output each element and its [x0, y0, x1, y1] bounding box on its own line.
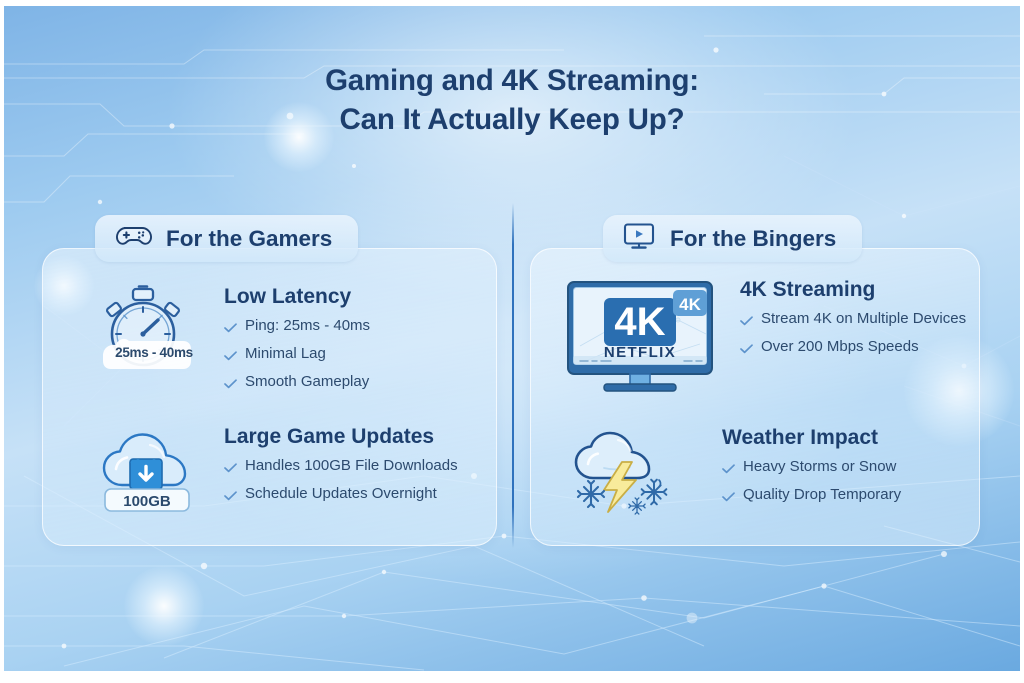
tv-main-label: 4K [614, 300, 665, 344]
storage-badge: 100GB [105, 493, 189, 510]
feature-title: Weather Impact [722, 426, 901, 450]
bullet-item: Quality Drop Temporary [722, 485, 901, 507]
title-line-2: Can It Actually Keep Up? [0, 101, 1024, 140]
check-icon [722, 461, 735, 479]
storm-snow-cloud-icon [560, 424, 700, 521]
feature-title: Low Latency [224, 285, 370, 309]
bullet-text: Smooth Gameplay [245, 372, 369, 391]
bullet-text: Over 200 Mbps Speeds [761, 337, 971, 356]
bullet-item: Stream 4K on Multiple Devices [740, 309, 971, 331]
bullet-item: Ping: 25ms - 40ms [224, 316, 370, 338]
feature-low-latency: 25ms - 40ms Low Latency Ping: 25ms - 40m… [92, 283, 370, 400]
bullet-item: Over 200 Mbps Speeds [740, 337, 971, 359]
bullet-text: Heavy Storms or Snow [743, 457, 896, 476]
column-header-label: For the Bingers [670, 226, 836, 252]
feature-weather-impact: Weather Impact Heavy Storms or Snow Qual… [560, 424, 901, 521]
column-header-bingers: For the Bingers [603, 215, 862, 262]
feature-title: 4K Streaming [740, 278, 971, 302]
check-icon [224, 460, 237, 478]
check-icon [740, 313, 753, 331]
tv-corner-badge: 4K [679, 295, 701, 314]
feature-title: Large Game Updates [224, 425, 458, 449]
check-icon [224, 320, 237, 338]
bullet-text: Handles 100GB File Downloads [245, 456, 458, 475]
feature-large-game-updates: 100GB Large Game Updates Handles 100GB F… [92, 423, 458, 520]
bullet-item: Smooth Gameplay [224, 372, 370, 394]
bullet-item: Schedule Updates Overnight [224, 484, 458, 506]
latency-badge: 25ms - 40ms [108, 345, 200, 360]
cloud-download-icon: 100GB [92, 423, 202, 520]
gamepad-icon [113, 222, 153, 255]
check-icon [740, 341, 753, 359]
title-line-1: Gaming and 4K Streaming: [0, 62, 1024, 101]
tv-brand: NETFLIX [604, 344, 676, 361]
bullet-text: Quality Drop Temporary [743, 485, 901, 504]
bullet-text: Schedule Updates Overnight [245, 484, 437, 503]
tv-4k-icon: 4K 4K NETFLIX [560, 276, 720, 399]
feature-4k-streaming: 4K 4K NETFLIX 4K Streaming Stream 4K on … [560, 276, 971, 399]
column-header-gamers: For the Gamers [95, 215, 358, 262]
bullet-item: Minimal Lag [224, 344, 370, 366]
column-header-label: For the Gamers [166, 226, 332, 252]
infographic-canvas: Gaming and 4K Streaming: Can It Actually… [0, 0, 1024, 683]
monitor-play-icon [621, 221, 657, 256]
bullet-text: Stream 4K on Multiple Devices [761, 309, 971, 328]
check-icon [224, 376, 237, 394]
bullet-text: Ping: 25ms - 40ms [245, 316, 370, 335]
bullet-text: Minimal Lag [245, 344, 326, 363]
check-icon [224, 488, 237, 506]
check-icon [722, 489, 735, 507]
page-title: Gaming and 4K Streaming: Can It Actually… [0, 62, 1024, 140]
bullet-item: Handles 100GB File Downloads [224, 456, 458, 478]
bullet-item: Heavy Storms or Snow [722, 457, 901, 479]
column-divider [512, 203, 514, 548]
check-icon [224, 348, 237, 366]
stopwatch-icon: 25ms - 40ms [92, 283, 200, 400]
